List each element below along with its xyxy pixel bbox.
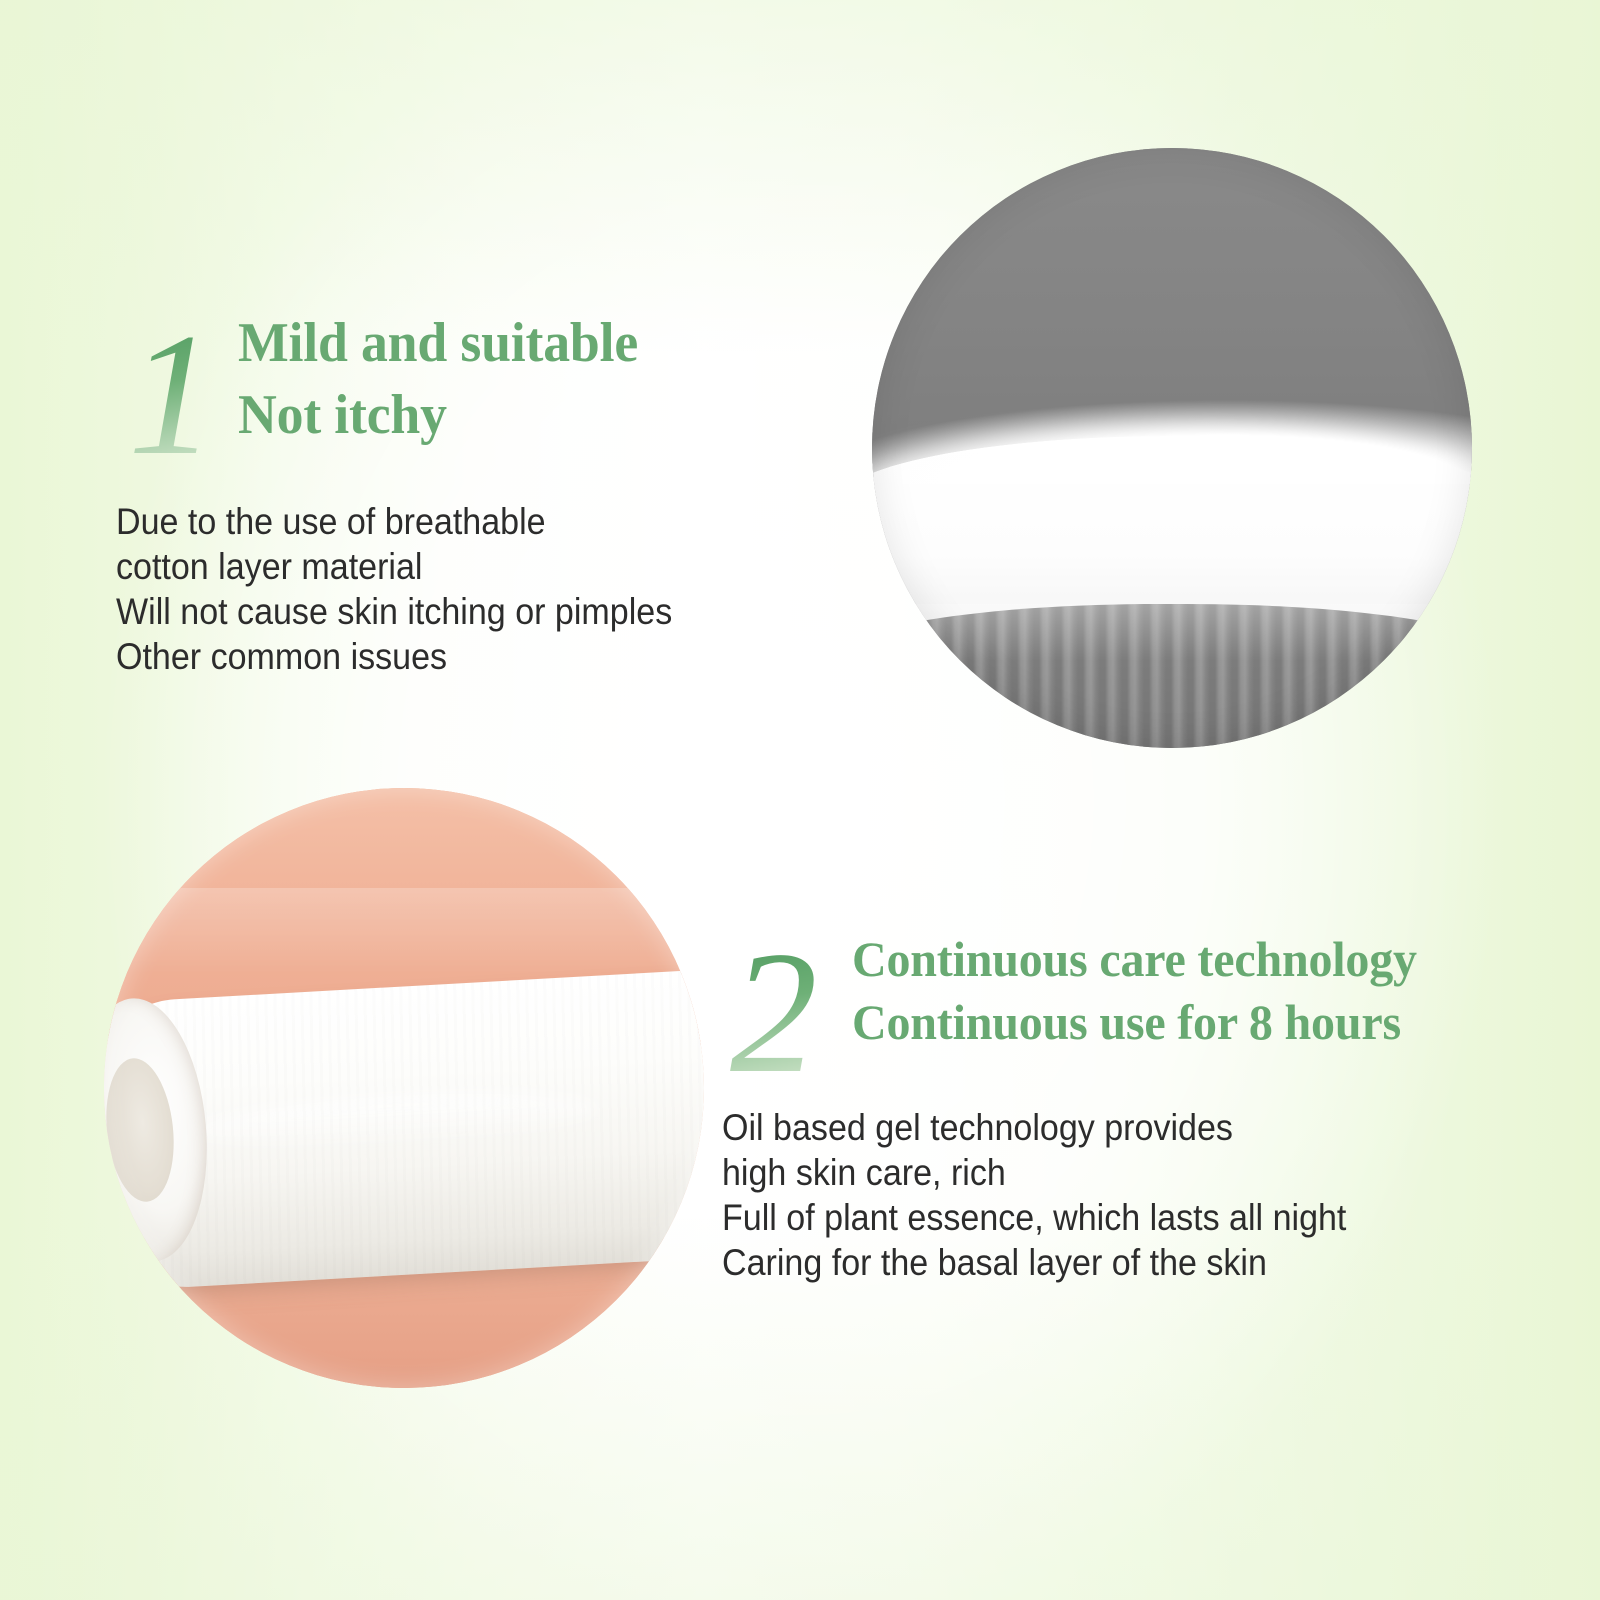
feature-1-title-line-2: Not itchy bbox=[238, 380, 789, 451]
feature-2-title-line-1: Continuous care technology bbox=[852, 928, 1518, 992]
feature-1-title-line-1: Mild and suitable bbox=[238, 308, 789, 379]
cotton-roll-highlight bbox=[194, 1085, 598, 1153]
feature-1-body-line-4: Other common issues bbox=[116, 634, 756, 679]
photo-rim-shadow bbox=[872, 148, 1472, 748]
feature-2-heading: 2 Continuous care technology Continuous … bbox=[716, 928, 1546, 1055]
feature-number-2: 2 bbox=[730, 934, 818, 1092]
feature-2-body-line-2: high skin care, rich bbox=[722, 1150, 1480, 1195]
feature-2-body: Oil based gel technology provides high s… bbox=[722, 1105, 1480, 1285]
feature-1-body-line-3: Will not cause skin itching or pimples bbox=[116, 589, 756, 634]
feature-block-2: 2 Continuous care technology Continuous … bbox=[716, 886, 1546, 1285]
feature-2-body-line-3: Full of plant essence, which lasts all n… bbox=[722, 1195, 1480, 1240]
feature-block-1: 1 Mild and suitable Not itchy Due to the… bbox=[112, 262, 812, 679]
feature-2-title-line-2: Continuous use for 8 hours bbox=[852, 991, 1518, 1055]
rolled-cotton-tube-photo bbox=[104, 788, 704, 1388]
feature-1-body-line-1: Due to the use of breathable bbox=[116, 499, 756, 544]
feature-2-title: Continuous care technology Continuous us… bbox=[852, 928, 1518, 1055]
feature-2-body-line-1: Oil based gel technology provides bbox=[722, 1105, 1480, 1150]
feature-1-body-line-2: cotton layer material bbox=[116, 544, 756, 589]
cotton-pad-macro-photo bbox=[872, 148, 1472, 748]
feature-1-heading: 1 Mild and suitable Not itchy bbox=[112, 308, 812, 450]
product-feature-poster: 1 Mild and suitable Not itchy Due to the… bbox=[0, 0, 1600, 1600]
feature-2-body-line-4: Caring for the basal layer of the skin bbox=[722, 1240, 1480, 1285]
feature-number-1: 1 bbox=[128, 316, 216, 474]
feature-1-body: Due to the use of breathable cotton laye… bbox=[116, 499, 756, 679]
feature-1-title: Mild and suitable Not itchy bbox=[238, 308, 789, 450]
